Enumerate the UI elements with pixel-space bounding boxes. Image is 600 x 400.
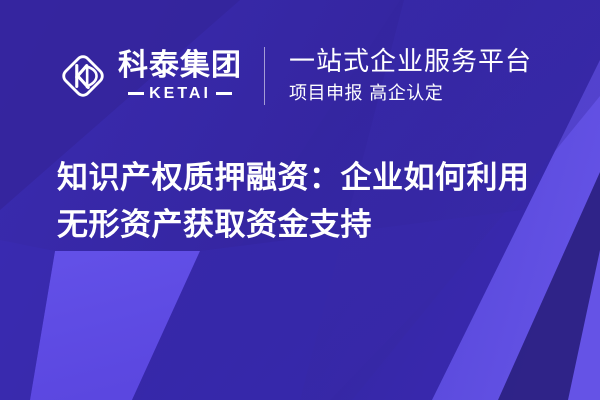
brand-logo: 科泰集团 KETAI (57, 50, 242, 102)
brand-name-en-row: KETAI (128, 85, 232, 102)
vertical-divider-icon (264, 47, 265, 105)
brand-tagline: 一站式企业服务平台 项目申报 高企认定 (289, 46, 532, 106)
dash-right-icon (216, 92, 232, 95)
headline-line-2: 无形资产获取资金支持 (57, 202, 557, 249)
dash-left-icon (128, 92, 144, 95)
headline-line-1: 知识产权质押融资：企业如何利用 (57, 155, 557, 202)
banner-header: 科泰集团 KETAI 一站式企业服务平台 项目申报 高企认定 (0, 40, 600, 112)
brand-name-cn: 科泰集团 (118, 50, 242, 82)
brand-name-en: KETAI (149, 85, 211, 102)
tagline-primary: 一站式企业服务平台 (289, 46, 532, 78)
brand-wordmark: 科泰集团 KETAI (118, 50, 242, 102)
promotional-banner: 科泰集团 KETAI 一站式企业服务平台 项目申报 高企认定 知识产权质押融资：… (0, 0, 600, 400)
tagline-secondary: 项目申报 高企认定 (289, 82, 532, 106)
headline-block: 知识产权质押融资：企业如何利用 无形资产获取资金支持 (57, 155, 557, 249)
ketai-diamond-kd-monogram-icon (57, 50, 109, 102)
